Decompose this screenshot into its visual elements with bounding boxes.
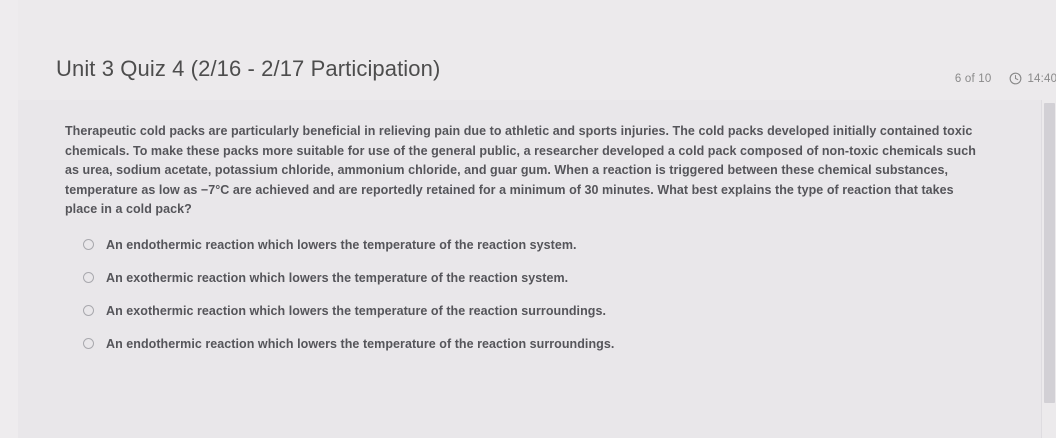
quiz-viewport: Unit 3 Quiz 4 (2/16 - 2/17 Participation… (0, 0, 1056, 438)
question-progress-count: 6 of 10 (955, 73, 992, 85)
question-text: Therapeutic cold packs are particularly … (65, 122, 985, 220)
radio-button-icon[interactable] (83, 305, 94, 316)
question-card: Therapeutic cold packs are particularly … (18, 100, 1056, 438)
quiz-timer-text: 14:40 / 5 (1027, 73, 1056, 85)
radio-button-icon[interactable] (83, 239, 94, 250)
answer-option-label: An endothermic reaction which lowers the… (106, 238, 577, 252)
answer-option-label: An endothermic reaction which lowers the… (106, 337, 614, 351)
answer-option-label: An exothermic reaction which lowers the … (106, 304, 606, 318)
radio-button-icon[interactable] (83, 272, 94, 283)
radio-button-icon[interactable] (83, 338, 94, 349)
answer-option-2[interactable]: An exothermic reaction which lowers the … (83, 261, 983, 294)
quiz-header: Unit 3 Quiz 4 (2/16 - 2/17 Participation… (18, 0, 1056, 100)
answer-option-4[interactable]: An endothermic reaction which lowers the… (83, 327, 983, 360)
quiz-title: Unit 3 Quiz 4 (2/16 - 2/17 Participation… (56, 56, 440, 82)
answer-option-label: An exothermic reaction which lowers the … (106, 271, 568, 285)
question-block: Therapeutic cold packs are particularly … (65, 122, 985, 220)
answer-options: An endothermic reaction which lowers the… (83, 228, 983, 360)
answer-option-1[interactable]: An endothermic reaction which lowers the… (83, 228, 983, 261)
left-gutter (0, 0, 18, 438)
answer-option-3[interactable]: An exothermic reaction which lowers the … (83, 294, 983, 327)
quiz-timer: 14:40 / 5 (1009, 72, 1056, 85)
vertical-scrollbar-thumb[interactable] (1044, 103, 1055, 403)
clock-icon (1009, 72, 1022, 85)
header-meta: 6 of 10 14:40 / 5 (955, 72, 1056, 85)
vertical-scrollbar[interactable] (1041, 100, 1056, 438)
